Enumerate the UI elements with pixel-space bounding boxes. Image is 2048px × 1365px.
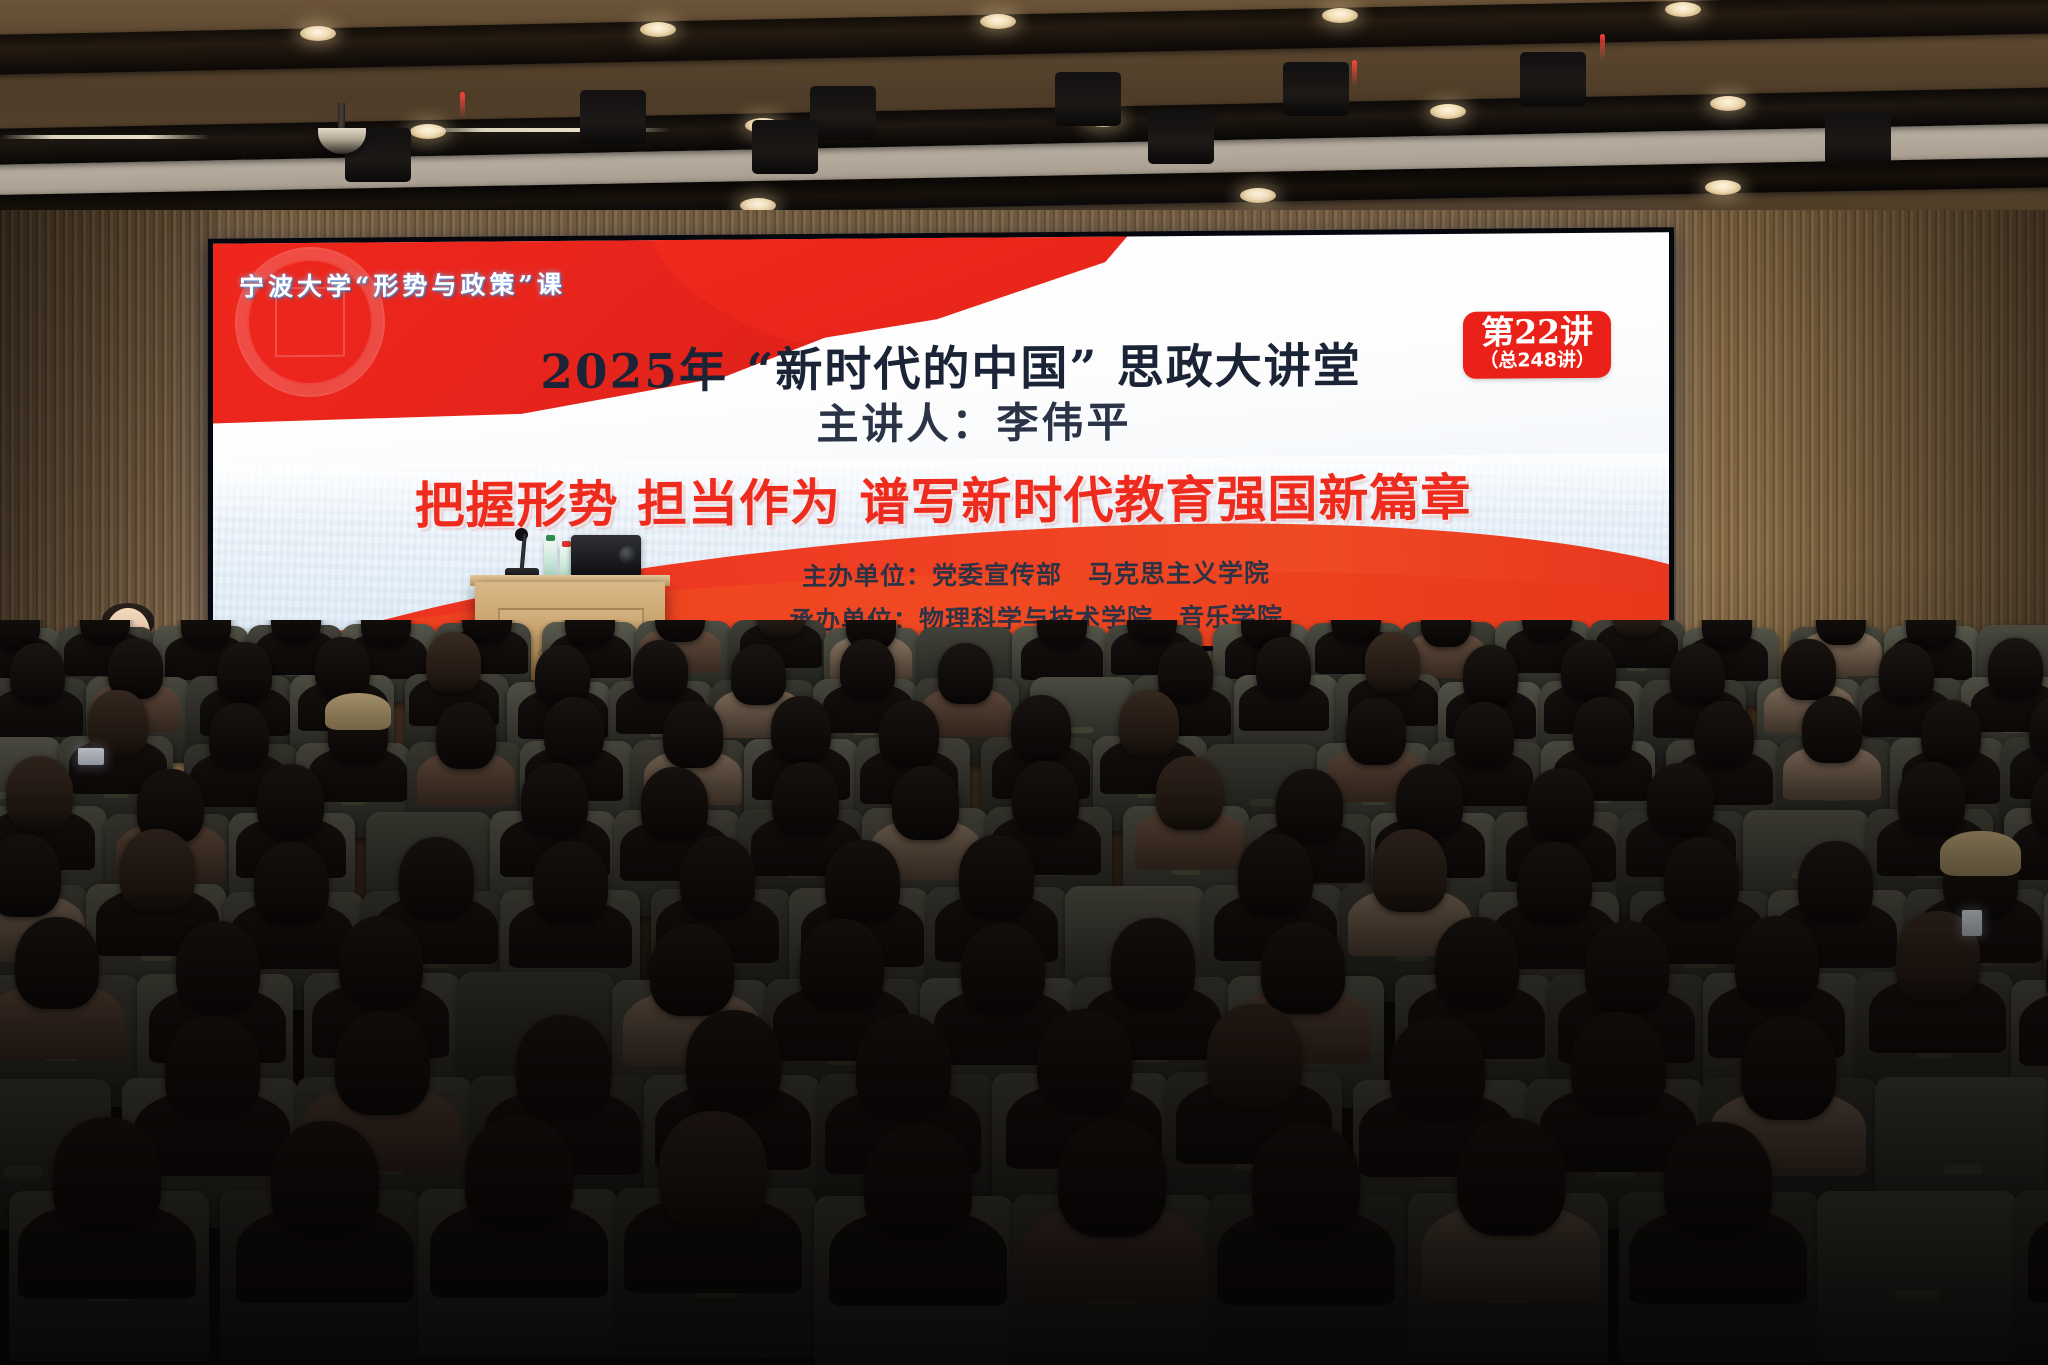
audience-member-head [315,637,370,698]
ceiling-speaker [1283,62,1349,116]
audience-member-head [120,829,195,912]
audience-member-head [1735,916,1819,1008]
audience-member-head [1276,769,1343,843]
audience-member-head [176,921,260,1013]
auditorium-seat [1817,1191,2017,1361]
ceiling-light-strip [0,135,210,139]
audience-member-head [1011,695,1071,762]
audience-member-head [1457,1118,1565,1236]
audience-member-head [1670,644,1725,705]
audience-member-head [771,696,831,763]
audience-member-head [1396,764,1463,838]
audience-member-head [521,763,588,837]
laser-indicator [1600,34,1605,60]
audience-member-head [1664,1122,1772,1240]
ceiling-speaker [752,120,818,174]
audience-member-head [856,1014,951,1118]
audience-member-head [217,642,272,703]
audience-member-head [6,756,73,830]
audience-member-head [1111,918,1195,1010]
audience-member-head [436,702,496,769]
audience-member-head [209,703,269,770]
ceiling-downlight [1322,8,1358,23]
audience-member-head [1573,697,1633,764]
audience-member-head [1365,632,1420,693]
audience-member-head [961,923,1045,1015]
audience-area [0,620,2048,1365]
slide-content: 宁波大学“形势与政策”课 2025年 “新时代的中国” 思政大讲堂 第22讲 （… [213,232,1669,653]
ceiling-speaker [580,90,646,144]
audience-member-head [1261,922,1345,1014]
slide-headline: 把握形势 担当作为 谱写新时代教育强国新篇章 [213,456,1669,539]
audience-cap [1940,831,2021,877]
monitor-lens [619,546,637,564]
audience-member-head [650,924,734,1016]
audience-member-head [1207,1004,1302,1108]
ceiling-downlight [1430,104,1466,119]
audience-member-head [892,766,959,840]
audience-member-head [1252,1123,1360,1241]
audience-member-head [659,1111,767,1229]
audience-member-head [772,762,839,836]
audience-member-head [544,697,604,764]
audience-member-head [663,701,723,768]
audience-member-head [1781,639,1836,700]
audience-member-head [1372,829,1447,912]
audience-member-head [825,840,900,923]
audience-member-head [1435,917,1519,1009]
audience-member-head [686,1010,781,1114]
audience-member-head [938,643,993,704]
ceiling-downlight [1240,188,1276,203]
audience-member-head [1390,1017,1485,1121]
audience-member-head [1571,1012,1666,1116]
bottle-cap [546,535,555,541]
audience-member-head [1561,640,1616,701]
ceiling-speaker [1148,110,1214,164]
audience-cap [325,693,391,730]
audience-member-head [879,700,939,767]
audience-member-head [15,917,99,1009]
audience-member-head [1988,638,2043,699]
audience-member-head [1421,620,1471,647]
ceiling-downlight [1665,2,1701,17]
audience-member-head [800,919,884,1011]
audience-member-head [1802,696,1862,763]
audience-member-head [1463,645,1518,706]
audience-member-head [641,767,708,841]
audience-member-head [1058,1119,1166,1237]
audience-member-head [1647,763,1714,837]
audience-member-head [1879,643,1934,704]
audience-member-head [335,1011,430,1115]
audience-member-head [680,836,755,919]
ceiling-speaker [1520,52,1586,106]
audience-member-head [1527,768,1594,842]
audience-member-head [465,1116,573,1234]
audience-member-head [516,1015,611,1119]
audience-member-head [165,1016,260,1120]
ceiling-speaker [810,86,876,140]
led-screen-frame: 宁波大学“形势与政策”课 2025年 “新时代的中国” 思政大讲堂 第22讲 （… [208,227,1674,659]
audience-member-head [361,620,411,648]
audience-member-head [1012,761,1079,835]
audience-member-head [1898,762,1965,836]
ceiling-downlight [300,26,336,41]
badge-total-count: （总248讲） [1479,350,1595,373]
audience-member-head [426,632,481,693]
audience-member-head [1517,842,1592,925]
ceiling-speaker [1825,112,1891,166]
audience-phone-screen [1962,910,1982,936]
audience-phone-screen [78,748,104,765]
audience-member-head [959,835,1034,918]
ceiling-speaker [1055,72,1121,126]
audience-member-head [1256,637,1311,698]
audience-member-head [271,1121,379,1239]
lecture-number-badge: 第22讲 （总248讲） [1463,311,1611,380]
audience-member-head [181,620,231,649]
audience-member-head [1454,702,1514,769]
ceiling-downlight [1705,180,1741,195]
audience-member-head [533,841,608,924]
audience-member-head [1741,1016,1836,1120]
presentation-slide: 宁波大学“形势与政策”课 2025年 “新时代的中国” 思政大讲堂 第22讲 （… [213,232,1669,653]
bottle-icon [544,540,557,578]
audience-member-head [1346,698,1406,765]
laser-indicator [1352,60,1357,86]
audience-member-head [10,643,65,704]
audience-member-head [840,639,895,700]
audience-member-head [1798,841,1873,924]
audience-member-head [1037,1009,1132,1113]
slide-banner-text: 宁波大学“形势与政策”课 [239,265,566,304]
audience-member-head [1156,756,1223,830]
audience-member-head [565,620,615,647]
audience-member-head [1921,700,1981,767]
audience-member-head [1694,701,1754,768]
audience-member-head [1238,834,1313,917]
audience-member-head [1158,642,1213,703]
ceiling-downlight [980,14,1016,29]
audience-member-head [254,842,329,925]
ceiling [0,0,2048,232]
audience-member-head [1585,921,1669,1013]
audience-member-head [633,640,688,701]
laser-indicator [460,92,465,118]
audience-member-head [1664,837,1739,920]
ceiling-downlight [1710,96,1746,111]
bottle-cap [562,541,571,547]
slide-speaker-name: 主讲人：李伟平 [213,384,1669,456]
audience-member-head [257,764,324,838]
audience-member-head [1037,620,1087,649]
monitor-icon [571,535,641,578]
audience-member-head [399,837,474,920]
audience-member-head [731,644,786,705]
audience-member-head [53,1117,161,1235]
audience-member-head [864,1124,972,1242]
auditorium-scene: 宁波大学“形势与政策”课 2025年 “新时代的中国” 思政大讲堂 第22讲 （… [0,0,2048,1365]
slide-organizer: 主办单位：党委宣传部 马克思主义学院 [213,550,1669,597]
audience-member-head [0,834,61,917]
badge-lecture-number: 第22讲 [1479,315,1595,351]
audience-member-head [1119,690,1179,757]
audience-member-head [339,916,423,1008]
ceiling-downlight [640,22,676,37]
